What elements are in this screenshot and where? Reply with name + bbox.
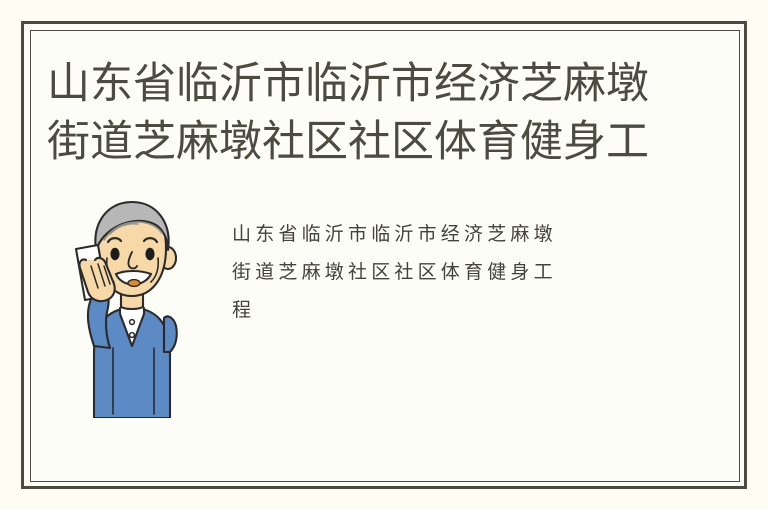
shirt-button-lower xyxy=(130,333,135,338)
body-paragraph: 山东省临沂市临沂市经济芝麻墩 街道芝麻墩社区社区体育健身工 程 xyxy=(232,216,652,330)
tongue xyxy=(128,280,140,287)
eye-left xyxy=(110,248,119,260)
poster-card: 山东省临沂市临沂市经济芝麻墩 街道芝麻墩社区社区体育健身工 xyxy=(0,0,768,510)
title-line-2: 街道芝麻墩社区社区体育健身工 xyxy=(47,113,647,171)
page-title: 山东省临沂市临沂市经济芝麻墩 街道芝麻墩社区社区体育健身工 xyxy=(47,55,647,171)
body-line-2: 街道芝麻墩社区社区体育健身工 xyxy=(232,254,652,292)
body-line-1: 山东省临沂市临沂市经济芝麻墩 xyxy=(232,216,652,254)
elderly-man-on-phone-illustration xyxy=(58,196,206,418)
body-line-3: 程 xyxy=(232,292,652,330)
title-line-1: 山东省临沂市临沂市经济芝麻墩 xyxy=(47,55,647,113)
sweater-right-sleeve xyxy=(164,316,177,352)
eye-right xyxy=(145,248,154,260)
shirt-button-upper xyxy=(130,320,135,325)
